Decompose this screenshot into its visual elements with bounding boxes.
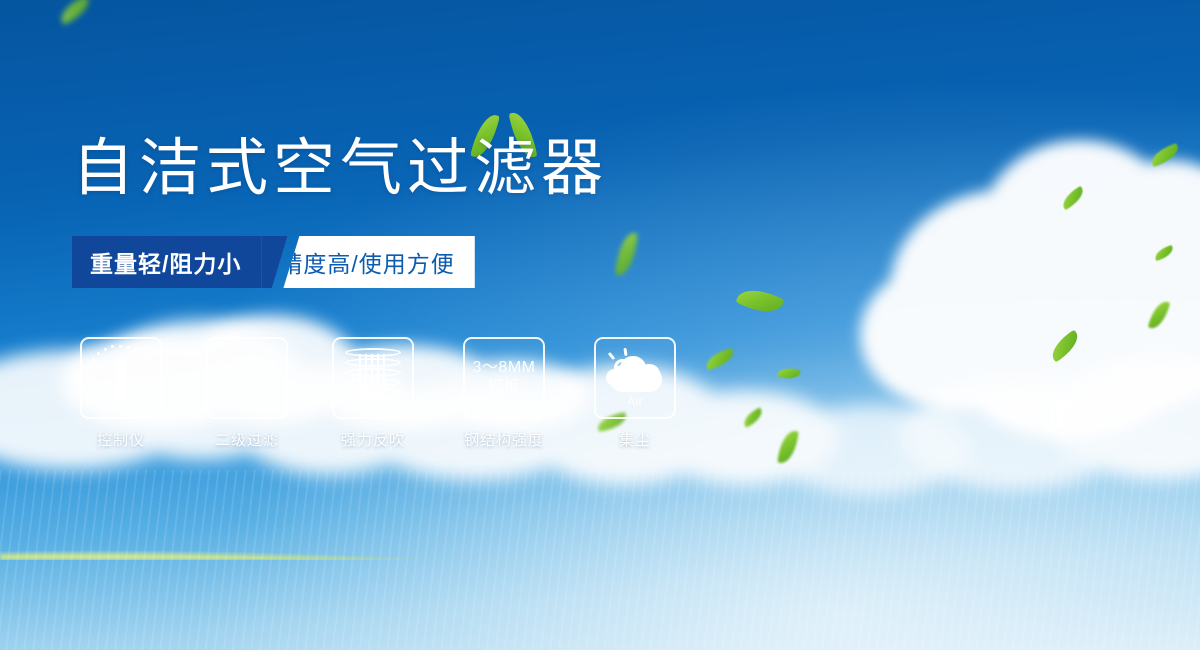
page-title: 自洁式空气过滤器 (72, 138, 608, 200)
pressure-text: 0.6～0.8 MPA (215, 358, 279, 399)
air-cloud-icon: Air (604, 350, 666, 406)
feature-item-dust[interactable]: Air 集尘 (594, 337, 676, 450)
filter-coil-icon-box (332, 337, 414, 419)
gauge-icon-box: NO OFF (80, 337, 162, 419)
gauge-needle (116, 359, 127, 405)
subtitle-left: 重量轻/阻力小 (72, 236, 261, 288)
feature-item-steel[interactable]: 3～8MM 钢板 钢结构强度 (458, 337, 550, 450)
feature-label: 二级过滤 (215, 429, 279, 450)
steel-text: 3～8MM 钢板 (473, 358, 536, 399)
feature-item-controller[interactable]: NO OFF 控制仪 (80, 337, 162, 450)
air-cloud-icon-box: Air (594, 337, 676, 419)
grass-near-field (0, 475, 1200, 650)
filter-coil-icon (345, 348, 401, 408)
subtitle-right: 精度高/使用方便 (273, 236, 474, 288)
feature-label: 集尘 (619, 429, 651, 450)
steel-icon-box: 3～8MM 钢板 (463, 337, 545, 419)
feature-label: 强力反吹 (341, 429, 405, 450)
feature-item-pressure[interactable]: 0.6～0.8 MPA 二级过滤 (206, 337, 288, 450)
feature-label: 钢结构强度 (464, 429, 544, 450)
leaf-icon (615, 231, 638, 277)
subtitle-divider (261, 236, 287, 288)
feature-list: NO OFF 控制仪 0.6～0.8 MPA 二级过滤 (80, 337, 676, 450)
feature-label: 控制仪 (97, 429, 145, 450)
gauge-off-label: OFF (140, 401, 153, 407)
gauge-icon: NO OFF (86, 343, 156, 413)
leaf-icon (56, 0, 94, 25)
subtitle-bar: 重量轻/阻力小 精度高/使用方便 (72, 236, 475, 288)
gauge-on-label: NO (87, 373, 97, 379)
product-banner: 自洁式空气过滤器 重量轻/阻力小 精度高/使用方便 (0, 0, 1200, 650)
pressure-icon-box: 0.6～0.8 MPA (206, 337, 288, 419)
air-label: Air (604, 394, 666, 408)
feature-item-backflush[interactable]: 强力反吹 (332, 337, 414, 450)
